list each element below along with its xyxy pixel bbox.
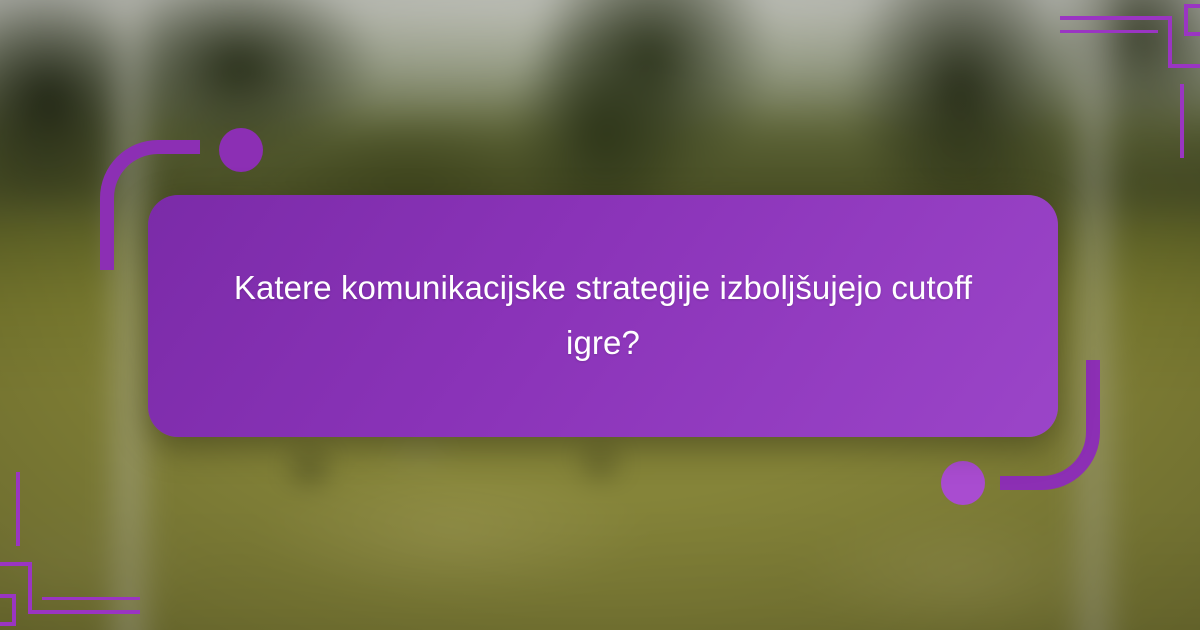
corner-frame-bottom-left — [0, 510, 140, 630]
frame-line-horizontal-outer — [1060, 16, 1172, 20]
frame-line-elbow-vertical — [1168, 16, 1172, 68]
frame-line-horizontal-inner — [42, 597, 140, 600]
frame-line-elbow-vertical — [28, 562, 32, 614]
frame-line-horizontal-inner — [1060, 30, 1158, 33]
frame-line-vertical — [16, 472, 20, 546]
frame-line-horizontal-outer — [28, 610, 140, 614]
corner-frame-top-right — [1060, 0, 1200, 120]
square-accent-icon — [1184, 4, 1200, 36]
square-accent-icon — [0, 594, 16, 626]
question-card-image: Katere komunikacijske strategije izboljš… — [0, 0, 1200, 630]
frame-line-vertical — [1180, 84, 1184, 158]
question-text: Katere komunikacijske strategije izboljš… — [220, 261, 986, 371]
frame-line-elbow-horizontal — [1168, 64, 1200, 68]
question-card: Katere komunikacijske strategije izboljš… — [148, 195, 1058, 437]
accent-dot-bottom-right — [941, 461, 985, 505]
frame-line-elbow-horizontal — [0, 562, 32, 566]
accent-dot-top-left — [219, 128, 263, 172]
